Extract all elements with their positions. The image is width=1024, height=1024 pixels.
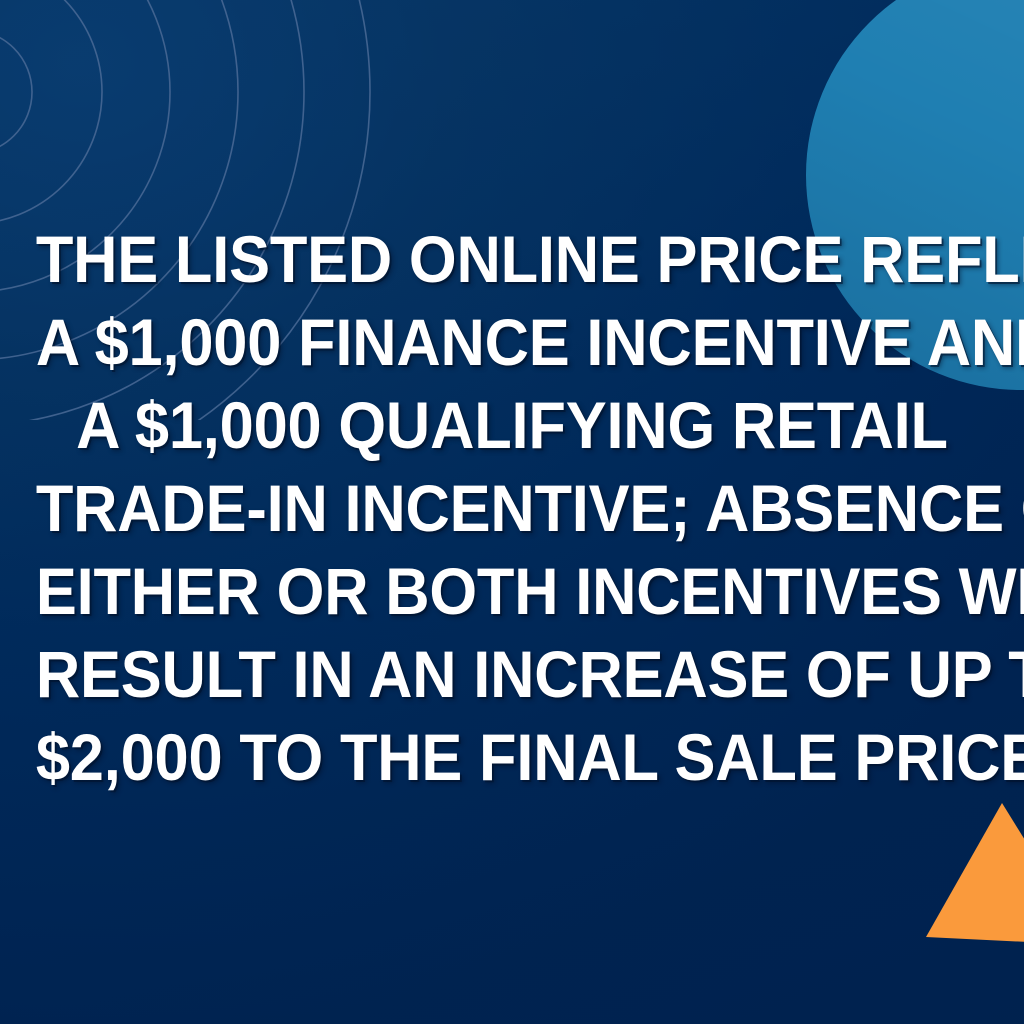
headline-line-3: A $1,000 QUALIFYING RETAIL [36,384,988,467]
headline-line-5: EITHER OR BOTH INCENTIVES WILL [36,550,988,633]
headline-line-4: TRADE-IN INCENTIVE; ABSENCE OF [36,467,988,550]
promo-card-canvas: THE LISTED ONLINE PRICE REFLECTS A $1,00… [0,0,1024,1024]
disclaimer-headline: THE LISTED ONLINE PRICE REFLECTS A $1,00… [0,218,1024,799]
headline-line-7: $2,000 TO THE FINAL SALE PRICE. [36,716,988,799]
headline-line-2: A $1,000 FINANCE INCENTIVE AND [36,301,988,384]
headline-line-1: THE LISTED ONLINE PRICE REFLECTS [36,218,988,301]
orange-triangle-decoration [900,795,1024,945]
headline-line-6: RESULT IN AN INCREASE OF UP TO [36,633,988,716]
